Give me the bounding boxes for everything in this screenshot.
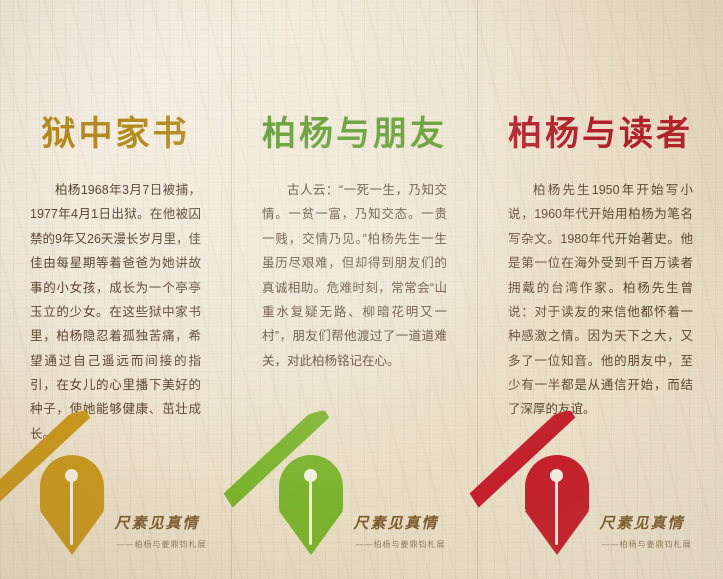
nib-hole-shape xyxy=(65,469,78,482)
pen-nib-icon xyxy=(518,455,596,555)
emblem-subtitle: ——柏杨与姜鼎钧札展 xyxy=(356,539,446,550)
panel-title: 狱中家书 xyxy=(42,118,190,152)
nib-slit-shape xyxy=(309,475,312,545)
pen-nib-icon xyxy=(272,455,350,555)
panel-body-text: 古人云：“一死一生，乃知交情。一贫一富，乃知交态。一贵一贱，交情乃见。”柏杨先生… xyxy=(262,178,447,373)
pen-nib-emblem: 尺素见真情 ——柏杨与姜鼎钧札展 xyxy=(250,455,460,563)
emblem-subtitle: ——柏杨与姜鼎钧札展 xyxy=(117,539,207,550)
panel-title: 柏杨与朋友 xyxy=(262,118,447,152)
nib-hole-shape xyxy=(304,469,317,482)
pen-nib-icon xyxy=(33,455,111,555)
panel-bo-yang-and-readers: 柏杨与读者 柏杨先生1950年开始写小说，1960年代开始用柏杨为笔名写杂文。1… xyxy=(477,0,723,579)
panel-prison-letters: 狱中家书 柏杨1968年3月7日被捕，1977年4月1日出狱。在他被囚禁的9年又… xyxy=(0,0,231,579)
panel-title: 柏杨与读者 xyxy=(508,118,693,152)
nib-slit-shape xyxy=(555,475,558,545)
pen-nib-emblem: 尺素见真情 ——柏杨与姜鼎钧札展 xyxy=(496,455,706,563)
pen-nib-emblem: 尺素见真情 ——柏杨与姜鼎钧札展 xyxy=(11,455,221,563)
emblem-title: 尺素见真情 xyxy=(600,512,685,533)
nib-hole-shape xyxy=(550,469,563,482)
panel-bo-yang-and-friends: 柏杨与朋友 古人云：“一死一生，乃知交情。一贫一富，乃知交态。一贵一贱，交情乃见… xyxy=(231,0,477,579)
panel-body-text: 柏杨1968年3月7日被捕，1977年4月1日出狱。在他被囚禁的9年又26天漫长… xyxy=(30,178,201,446)
emblem-title: 尺素见真情 xyxy=(115,512,200,533)
nib-slit-shape xyxy=(70,475,73,545)
emblem-subtitle: ——柏杨与姜鼎钧札展 xyxy=(602,539,692,550)
panel-body-text: 柏杨先生1950年开始写小说，1960年代开始用柏杨为笔名写杂文。1980年代开… xyxy=(508,178,693,422)
exhibition-poster-set: 狱中家书 柏杨1968年3月7日被捕，1977年4月1日出狱。在他被囚禁的9年又… xyxy=(0,0,723,579)
emblem-title: 尺素见真情 xyxy=(354,512,439,533)
